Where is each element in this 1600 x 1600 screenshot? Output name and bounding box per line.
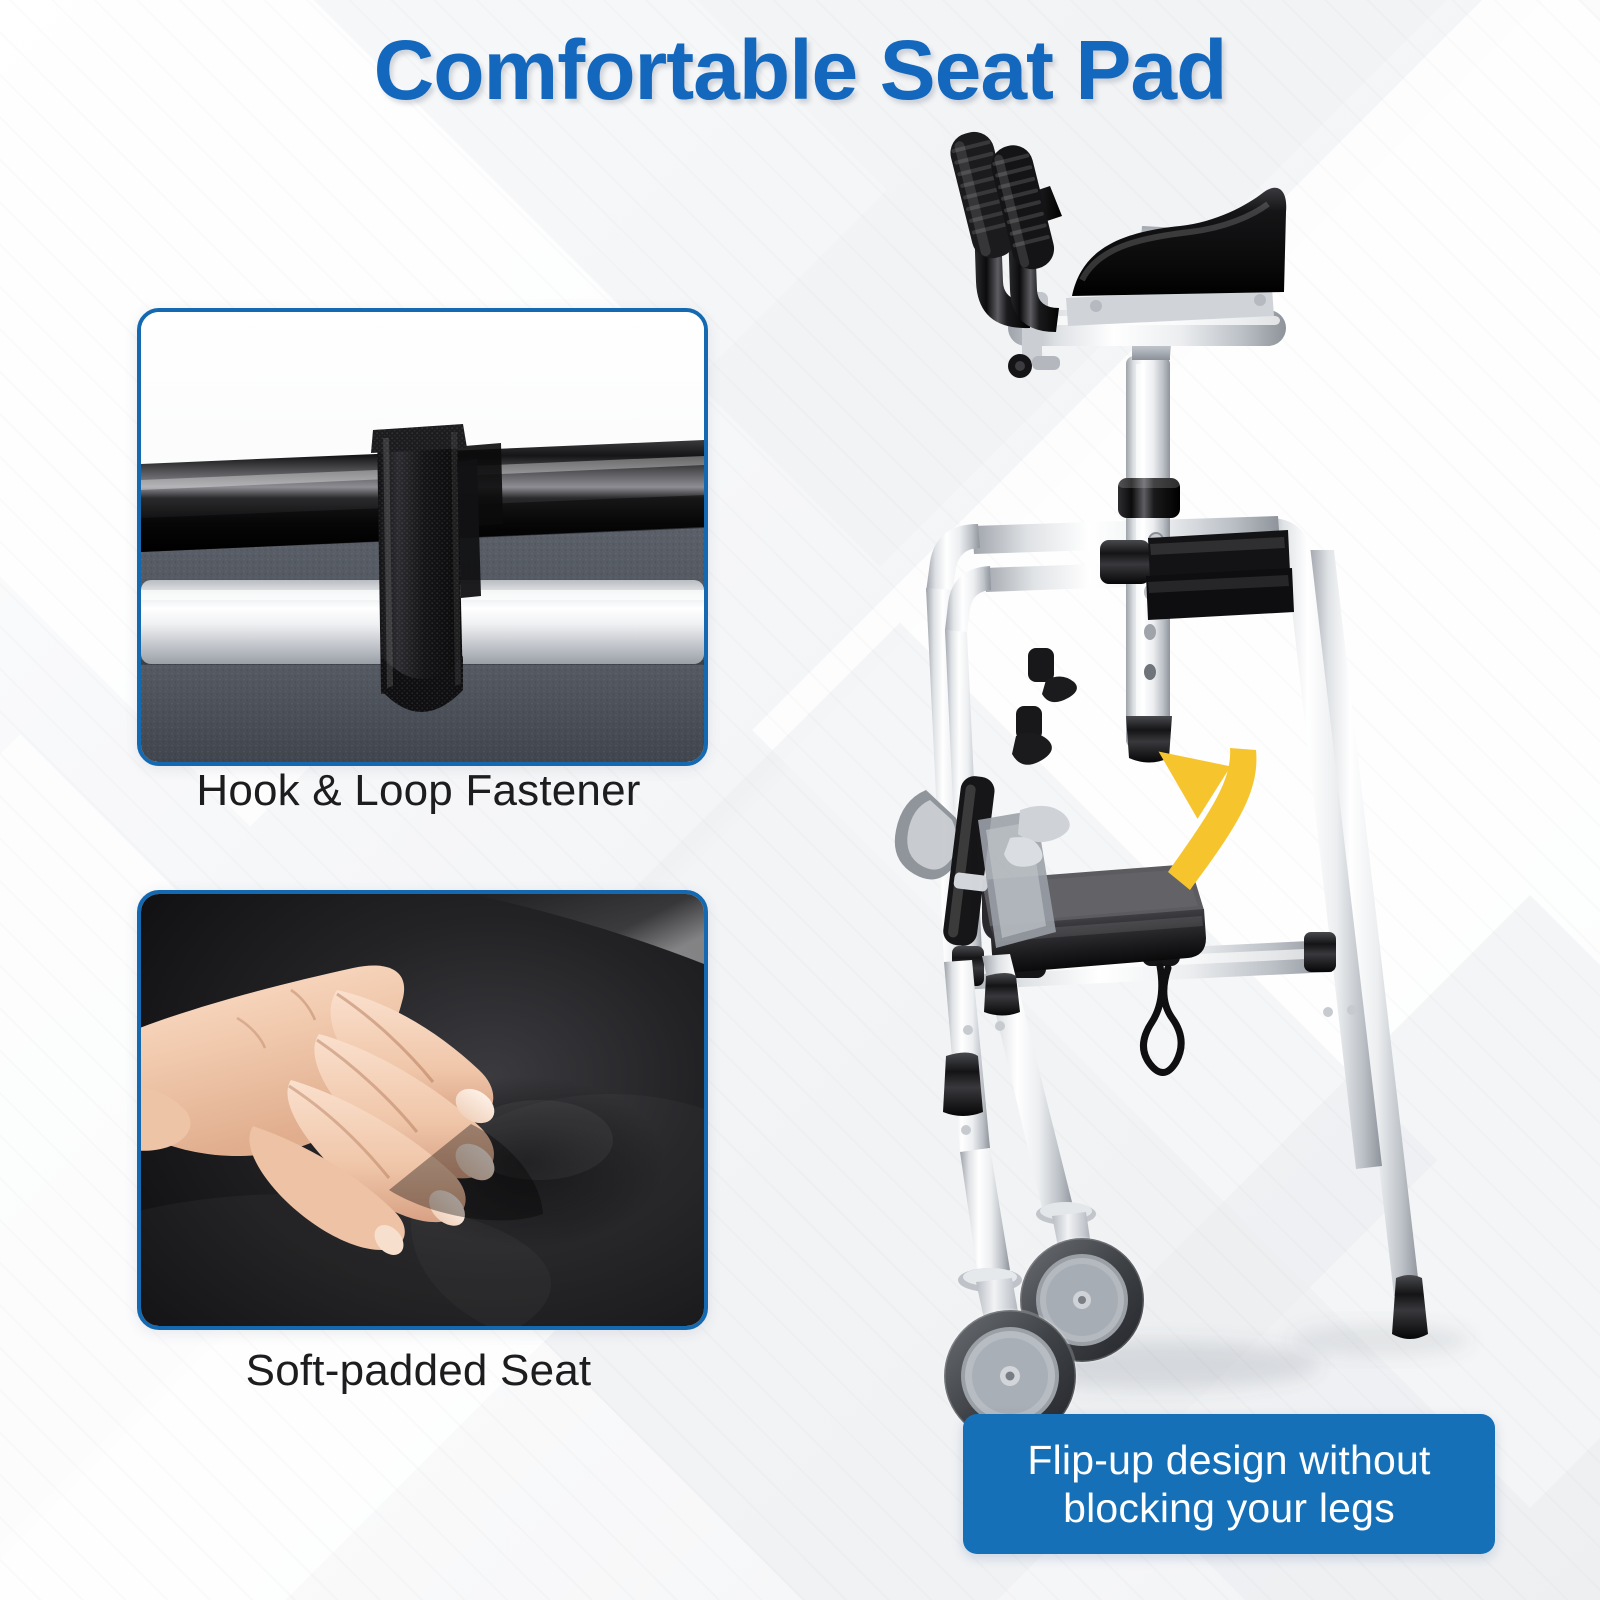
callout-line-1: Flip-up design without — [1027, 1436, 1430, 1484]
caption-soft-seat: Soft-padded Seat — [137, 1346, 700, 1396]
caption-hook-loop: Hook & Loop Fastener — [137, 766, 700, 816]
callout-line-2: blocking your legs — [1063, 1484, 1395, 1532]
page-title: Comfortable Seat Pad — [0, 22, 1600, 119]
inset-photo-hook-loop — [137, 308, 708, 766]
callout-flip-up-design: Flip-up design without blocking your leg… — [963, 1414, 1495, 1554]
infographic-canvas: Comfortable Seat Pad — [0, 0, 1600, 1600]
hook-loop-illustration — [141, 312, 704, 762]
soft-seat-illustration — [141, 894, 704, 1326]
walker-illustration — [860, 120, 1560, 1460]
inset-photo-soft-seat — [137, 890, 708, 1330]
product-photo-walker — [860, 120, 1560, 1460]
